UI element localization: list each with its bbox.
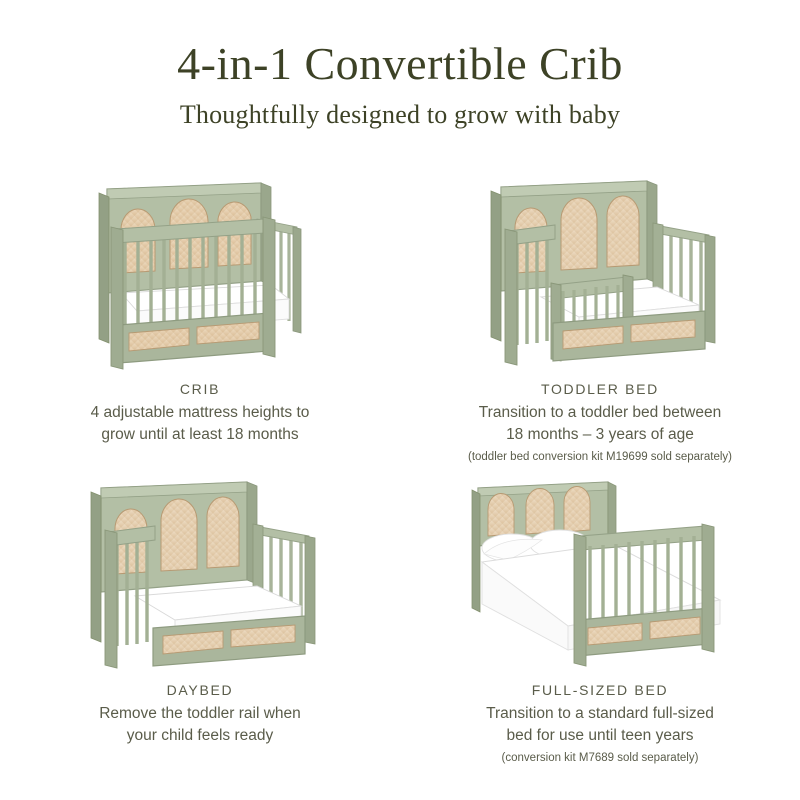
config-item-full-sized-bed: FULL-SIZED BED Transition to a standard … bbox=[400, 469, 800, 766]
caption-toddler-bed: TODDLER BED Transition to a toddler bed … bbox=[468, 381, 732, 465]
page-header: 4-in-1 Convertible Crib Thoughtfully des… bbox=[0, 0, 800, 130]
config-item-crib: CRIB 4 adjustable mattress heights to gr… bbox=[0, 168, 400, 465]
caption-line-2: bed for use until teen years bbox=[486, 725, 714, 747]
caption-title: DAYBED bbox=[99, 682, 301, 698]
toddler-bed-illustration bbox=[400, 168, 800, 373]
daybed-illustration bbox=[0, 469, 400, 674]
caption-line-1: Transition to a toddler bed between bbox=[468, 402, 732, 424]
caption-title: TODDLER BED bbox=[468, 381, 732, 397]
caption-line-2: grow until at least 18 months bbox=[91, 424, 310, 446]
config-item-daybed: DAYBED Remove the toddler rail when your… bbox=[0, 469, 400, 766]
caption-line-1: Remove the toddler rail when bbox=[99, 703, 301, 725]
crib-illustration bbox=[0, 168, 400, 373]
caption-note: (toddler bed conversion kit M19699 sold … bbox=[468, 450, 732, 465]
page-subtitle: Thoughtfully designed to grow with baby bbox=[0, 100, 800, 130]
caption-note: (conversion kit M7689 sold separately) bbox=[486, 751, 714, 766]
caption-title: FULL-SIZED BED bbox=[486, 682, 714, 698]
caption-line-1: Transition to a standard full-sized bbox=[486, 703, 714, 725]
caption-full-sized-bed: FULL-SIZED BED Transition to a standard … bbox=[486, 682, 714, 766]
caption-line-2: 18 months – 3 years of age bbox=[468, 424, 732, 446]
caption-crib: CRIB 4 adjustable mattress heights to gr… bbox=[91, 381, 310, 447]
full-sized-bed-illustration bbox=[400, 469, 800, 674]
caption-line-1: 4 adjustable mattress heights to bbox=[91, 402, 310, 424]
caption-line-2: your child feels ready bbox=[99, 725, 301, 747]
caption-daybed: DAYBED Remove the toddler rail when your… bbox=[99, 682, 301, 748]
page-title: 4-in-1 Convertible Crib bbox=[0, 40, 800, 88]
infographic-page: 4-in-1 Convertible Crib Thoughtfully des… bbox=[0, 0, 800, 800]
config-item-toddler-bed: TODDLER BED Transition to a toddler bed … bbox=[400, 168, 800, 465]
caption-title: CRIB bbox=[91, 381, 310, 397]
configuration-grid: CRIB 4 adjustable mattress heights to gr… bbox=[0, 168, 800, 766]
